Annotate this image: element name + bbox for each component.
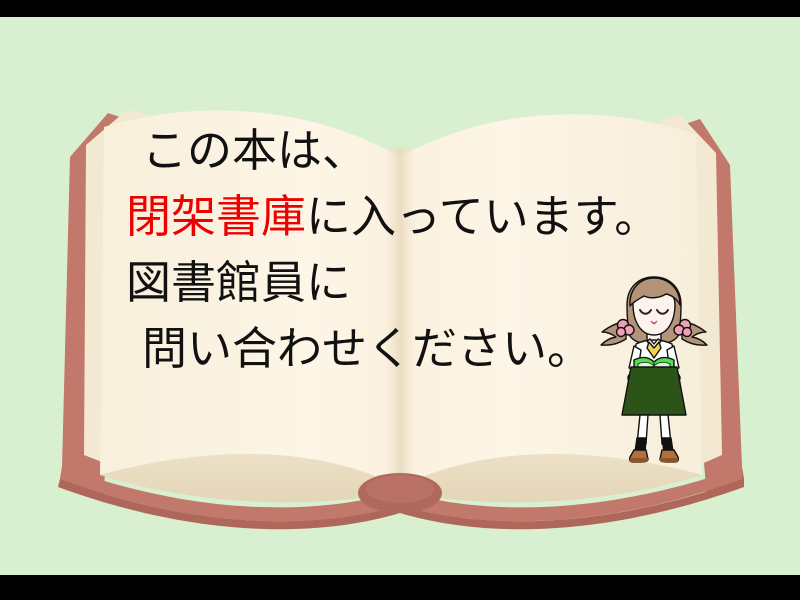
message-line-3-text: 図書館員に: [126, 256, 351, 309]
message-line-2: 閉架書庫に入っています。: [126, 184, 686, 250]
screenshot-canvas: この本は、 閉架書庫に入っています。 図書館員に 問い合わせください。: [0, 0, 800, 600]
letterbox-bar-top: [0, 0, 800, 17]
shoe-right-sole: [660, 458, 678, 463]
message-line-1-text: この本は、: [142, 124, 367, 177]
shoe-left-sole: [630, 458, 648, 463]
message-line-1: この本は、: [126, 118, 686, 184]
message-line-4-text: 問い合わせください。: [142, 322, 592, 375]
book-binding-highlight: [366, 475, 434, 503]
girl-reading-book-illustration: [596, 272, 712, 464]
letterbox-bar-bottom: [0, 575, 800, 600]
skirt: [622, 367, 686, 415]
message-line-2-rest: に入っています。: [306, 190, 659, 243]
message-line-2-highlight: 閉架書庫: [126, 190, 306, 243]
